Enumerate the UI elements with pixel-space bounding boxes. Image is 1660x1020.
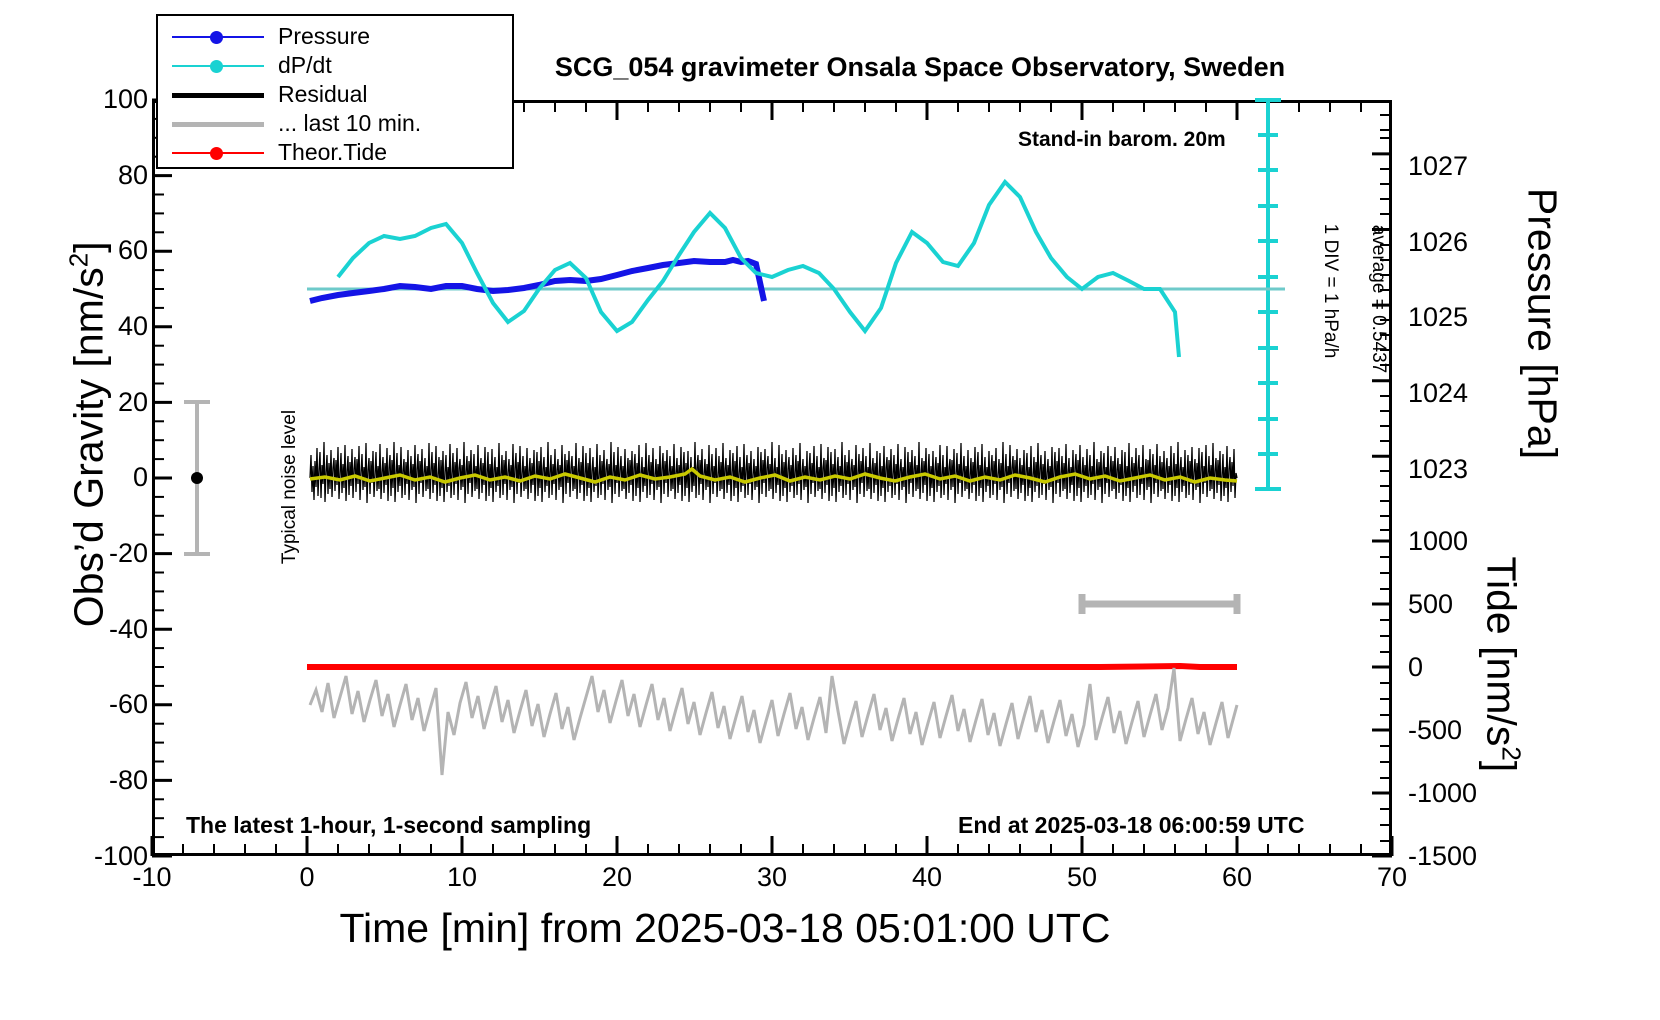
standin-barom-label: Stand-in barom. 20m	[1018, 128, 1226, 152]
legend-label: ... last 10 min.	[278, 110, 421, 137]
legend-label: Residual	[278, 81, 368, 108]
x-tick-label: 40	[887, 862, 967, 893]
x-tick-label: -10	[112, 862, 192, 893]
legend-swatch-pressure	[172, 27, 264, 47]
x-tick-label: 60	[1197, 862, 1277, 893]
legend-label: Theor.Tide	[278, 139, 387, 166]
tide-axis-title: Tide [nm/s2]	[1478, 454, 1527, 874]
last-10-min-bar	[1082, 594, 1237, 614]
y-axis-title-superscript: 2	[64, 253, 94, 267]
div-scale-label: 1 DIV = 1 hPa/h	[1319, 191, 1341, 391]
x-tick-label: 30	[732, 862, 812, 893]
chart-title: SCG_054 gravimeter Onsala Space Observat…	[430, 52, 1410, 83]
x-tick-label: 50	[1042, 862, 1122, 893]
legend-swatch-dpdt	[172, 56, 264, 76]
legend: Pressure dP/dt Residual ... last 10 min.…	[156, 14, 514, 169]
legend-swatch-theor-tide	[172, 143, 264, 163]
legend-item-dpdt[interactable]: dP/dt	[158, 51, 512, 80]
residual-series	[310, 442, 1237, 503]
sampling-info-label: The latest 1-hour, 1-second sampling	[186, 812, 591, 839]
x-tick-label: 20	[577, 862, 657, 893]
end-time-label: End at 2025-03-18 06:00:59 UTC	[958, 812, 1304, 839]
tide-axis-title-superscript: 2	[1496, 746, 1526, 760]
legend-item-residual[interactable]: Residual	[158, 80, 512, 109]
legend-label: dP/dt	[278, 52, 332, 79]
tide-axis-title-bracket: ]	[1479, 761, 1525, 772]
y-axis-title: Obs’d Gravity [nm/s2]	[64, 54, 113, 814]
legend-item-last10[interactable]: ... last 10 min.	[158, 109, 512, 138]
dpdt-scale-bar	[1255, 100, 1281, 489]
legend-swatch-last10	[172, 114, 264, 134]
pressure-tick-label: 1025	[1408, 304, 1498, 331]
legend-item-pressure[interactable]: Pressure	[158, 22, 512, 51]
pressure-tick-label: 1026	[1408, 229, 1498, 256]
pressure-tick-label: 1027	[1408, 153, 1498, 180]
x-tick-label: 0	[267, 862, 347, 893]
last-10-min-series	[310, 668, 1237, 775]
y-axis-title-bracket: ]	[65, 241, 111, 252]
x-tick-label: 10	[422, 862, 502, 893]
noise-center-dot	[191, 472, 203, 484]
legend-label: Pressure	[278, 23, 370, 50]
pressure-tick-label: 1024	[1408, 380, 1498, 407]
average-label: average = 0.5437	[1367, 209, 1389, 389]
tide-axis-title-text: Tide [nm/s	[1479, 556, 1525, 746]
legend-item-theor-tide[interactable]: Theor.Tide	[158, 138, 512, 167]
x-axis-title: Time [min] from 2025-03-18 05:01:00 UTC	[0, 905, 1450, 952]
typical-noise-label: Typical noise level	[279, 397, 301, 577]
legend-swatch-residual	[172, 85, 264, 105]
theoretical-tide-series	[307, 666, 1237, 667]
y-axis-title-text: Obs’d Gravity [nm/s	[65, 267, 111, 627]
